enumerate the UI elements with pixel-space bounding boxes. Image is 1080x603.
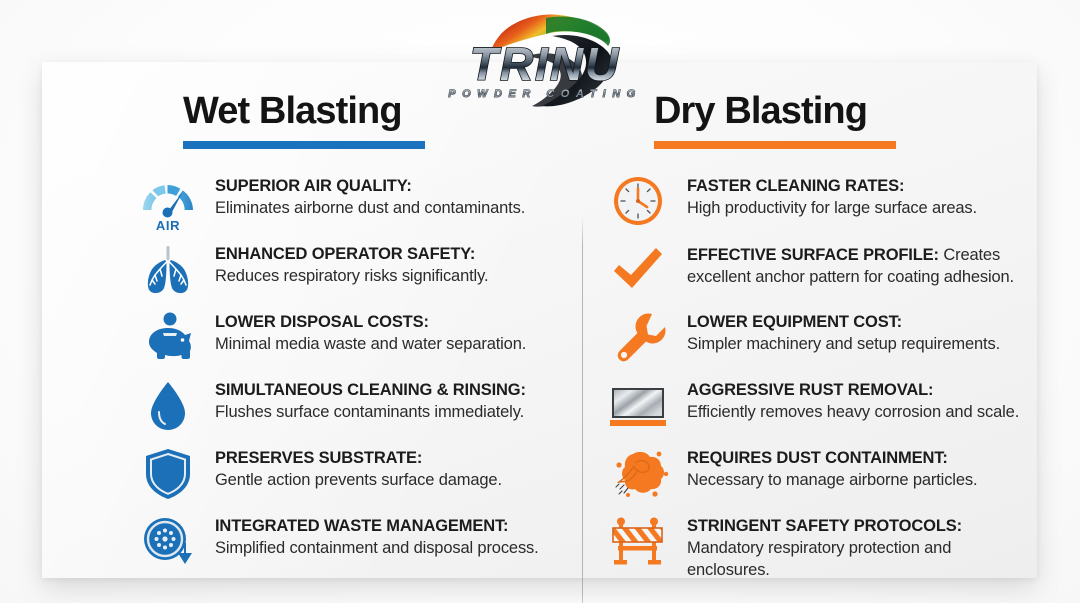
list-item: EFFECTIVE SURFACE PROFILE: Creates excel… — [539, 238, 1037, 306]
list-item-title: SIMULTANEOUS CLEANING & RINSING: — [215, 381, 526, 399]
list-item-title: ENHANCED OPERATOR SAFETY: — [215, 245, 475, 263]
list-item-title: FASTER CLEANING RATES: — [687, 177, 904, 195]
column-wet-blasting: Wet Blasting — [42, 62, 539, 578]
safety-barrier-icon — [607, 510, 669, 572]
list-item: SIMULTANEOUS CLEANING & RINSING: Flushes… — [42, 374, 539, 442]
list-item-desc: High productivity for large surface area… — [687, 197, 977, 219]
list-item-text: STRINGENT SAFETY PROTOCOLS: Mandatory re… — [669, 510, 1037, 581]
logo-wordmark: TRINU POWDER COATING — [448, 38, 641, 100]
list-item-desc: Mandatory respiratory protection and enc… — [687, 537, 1037, 581]
water-drop-icon — [137, 374, 199, 436]
wet-accent-bar — [183, 141, 425, 149]
list-item-text: EFFECTIVE SURFACE PROFILE: Creates excel… — [669, 238, 1037, 288]
dry-items-list: FASTER CLEANING RATES: High productivity… — [539, 170, 1037, 578]
list-item-desc: Reduces respiratory risks significantly. — [215, 265, 488, 287]
list-item: PRESERVES SUBSTRATE: Gentle action preve… — [42, 442, 539, 510]
list-item-desc: Flushes surface contaminants immediately… — [215, 401, 526, 423]
svg-text:TRINU: TRINU — [470, 38, 621, 90]
list-item-title: LOWER DISPOSAL COSTS: — [215, 313, 429, 331]
list-item-desc: Efficiently removes heavy corrosion and … — [687, 401, 1019, 423]
column-divider — [582, 217, 583, 603]
list-item-text: FASTER CLEANING RATES: High productivity… — [669, 170, 977, 219]
list-item: STRINGENT SAFETY PROTOCOLS: Mandatory re… — [539, 510, 1037, 578]
dust-cloud-icon — [607, 442, 669, 504]
list-item-desc: Gentle action prevents surface damage. — [215, 469, 502, 491]
list-item-title: STRINGENT SAFETY PROTOCOLS: — [687, 517, 962, 535]
list-item: AGGRESSIVE RUST REMOVAL: Efficiently rem… — [539, 374, 1037, 442]
list-item-desc: Simplified containment and disposal proc… — [215, 537, 539, 559]
dry-accent-bar — [654, 141, 896, 149]
list-item: LOWER DISPOSAL COSTS: Minimal media wast… — [42, 306, 539, 374]
list-item-title: INTEGRATED WASTE MANAGEMENT: — [215, 517, 508, 535]
list-item-desc: Simpler machinery and setup requirements… — [687, 333, 1000, 355]
list-item-text: PRESERVES SUBSTRATE: Gentle action preve… — [199, 442, 502, 491]
list-item-title: LOWER EQUIPMENT COST: — [687, 313, 902, 331]
list-item-title: REQUIRES DUST CONTAINMENT: — [687, 449, 948, 467]
list-item: ENHANCED OPERATOR SAFETY: Reduces respir… — [42, 238, 539, 306]
air-gauge-icon: AIR — [137, 170, 199, 232]
svg-text:POWDER COATING: POWDER COATING — [448, 88, 641, 100]
list-item-desc: Necessary to manage airborne particles. — [687, 469, 977, 491]
shield-icon — [137, 442, 199, 504]
metal-plate-icon — [607, 374, 669, 436]
list-item-text: SIMULTANEOUS CLEANING & RINSING: Flushes… — [199, 374, 526, 423]
list-item-desc: Minimal media waste and water separation… — [215, 333, 526, 355]
list-item-text: ENHANCED OPERATOR SAFETY: Reduces respir… — [199, 238, 488, 287]
blower-fan-icon — [137, 510, 199, 572]
list-item-desc: Eliminates airborne dust and contaminant… — [215, 197, 525, 219]
list-item-text: LOWER EQUIPMENT COST: Simpler machinery … — [669, 306, 1000, 355]
list-item-title: PRESERVES SUBSTRATE: — [215, 449, 422, 467]
trinu-logo: TRINU POWDER COATING — [432, 2, 662, 110]
list-item: AIR SUPERIOR AIR QUALITY: Eliminates air… — [42, 170, 539, 238]
list-item: FASTER CLEANING RATES: High productivity… — [539, 170, 1037, 238]
list-item-text: LOWER DISPOSAL COSTS: Minimal media wast… — [199, 306, 526, 355]
list-item: REQUIRES DUST CONTAINMENT: Necessary to … — [539, 442, 1037, 510]
column-dry-blasting: Dry Blasting — [539, 62, 1037, 578]
list-item: INTEGRATED WASTE MANAGEMENT: Simplified … — [42, 510, 539, 578]
list-item-title: AGGRESSIVE RUST REMOVAL: — [687, 381, 933, 399]
wrench-icon — [607, 306, 669, 368]
svg-text:AIR: AIR — [156, 218, 180, 232]
page-title-dry: Dry Blasting — [654, 88, 1037, 134]
comparison-columns: Wet Blasting — [42, 62, 1037, 578]
clock-icon — [607, 170, 669, 232]
checkmark-icon — [607, 238, 669, 300]
list-item-text: REQUIRES DUST CONTAINMENT: Necessary to … — [669, 442, 977, 491]
list-item-text: AGGRESSIVE RUST REMOVAL: Efficiently rem… — [669, 374, 1019, 423]
list-item-text: SUPERIOR AIR QUALITY: Eliminates airborn… — [199, 170, 525, 219]
list-item-title: SUPERIOR AIR QUALITY: — [215, 177, 412, 195]
list-item-text: INTEGRATED WASTE MANAGEMENT: Simplified … — [199, 510, 539, 559]
piggy-bank-icon — [137, 306, 199, 368]
list-item-title: EFFECTIVE SURFACE PROFILE: — [687, 246, 939, 264]
lungs-icon — [137, 238, 199, 300]
wet-items-list: AIR SUPERIOR AIR QUALITY: Eliminates air… — [42, 170, 539, 578]
list-item: LOWER EQUIPMENT COST: Simpler machinery … — [539, 306, 1037, 374]
